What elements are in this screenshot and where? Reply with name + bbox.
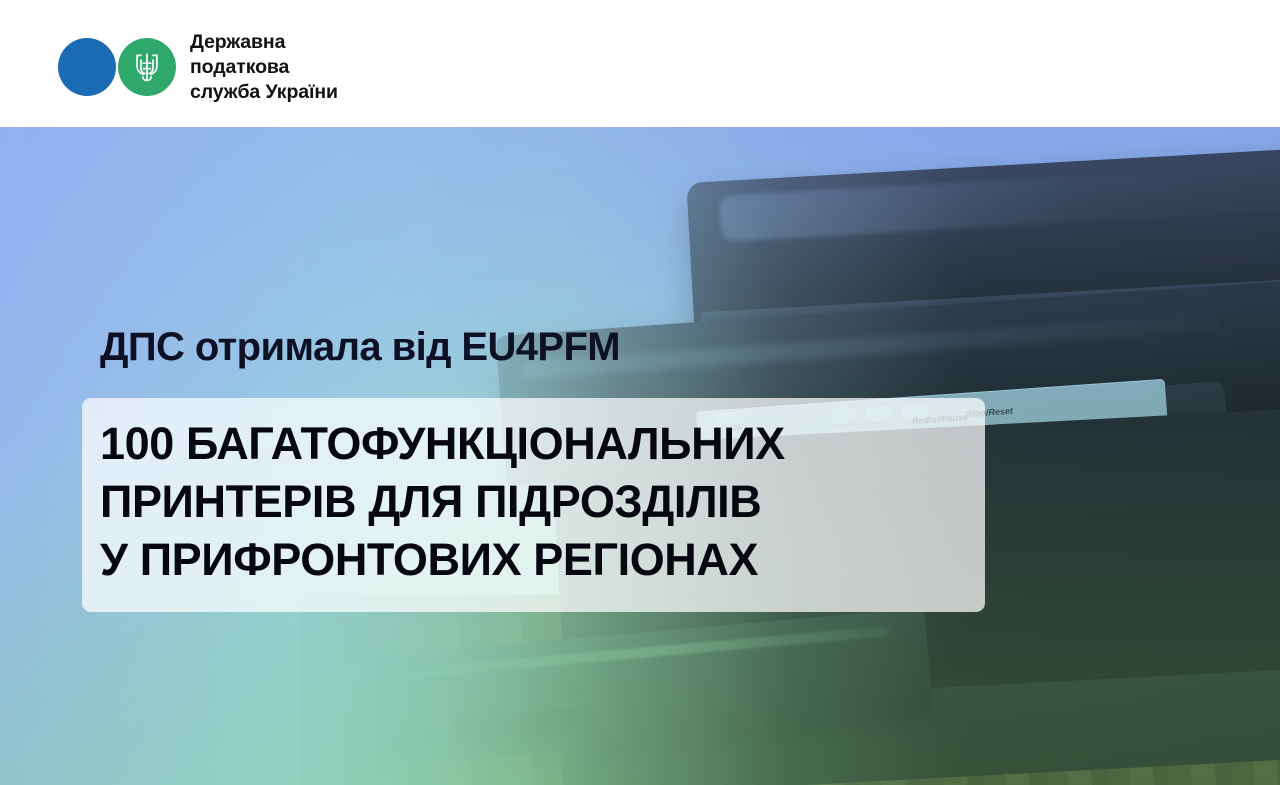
banner-headline: 100 БАГАТОФУНКЦІОНАЛЬНИХ ПРИНТЕРІВ ДЛЯ П… (100, 415, 980, 589)
banner-kicker: ДПС отримала від EU4PFM (100, 325, 620, 370)
banner-text-layer: ДПС отримала від EU4PFM 100 БАГАТОФУНКЦІ… (0, 127, 1280, 785)
promo-banner: Redial/Pause Stop/Reset Coded Dial Start… (0, 0, 1280, 785)
ukrainian-trident-icon (118, 38, 176, 96)
logo-text: Державна податкова служба України (190, 30, 338, 105)
logo-lockup[interactable]: Державна податкова служба України (58, 30, 338, 105)
banner-photo-stage: Redial/Pause Stop/Reset Coded Dial Start… (0, 127, 1280, 785)
logo-circles (58, 36, 176, 98)
header-bar: Державна податкова служба України (0, 0, 1280, 127)
blue-circle-icon (58, 38, 116, 96)
